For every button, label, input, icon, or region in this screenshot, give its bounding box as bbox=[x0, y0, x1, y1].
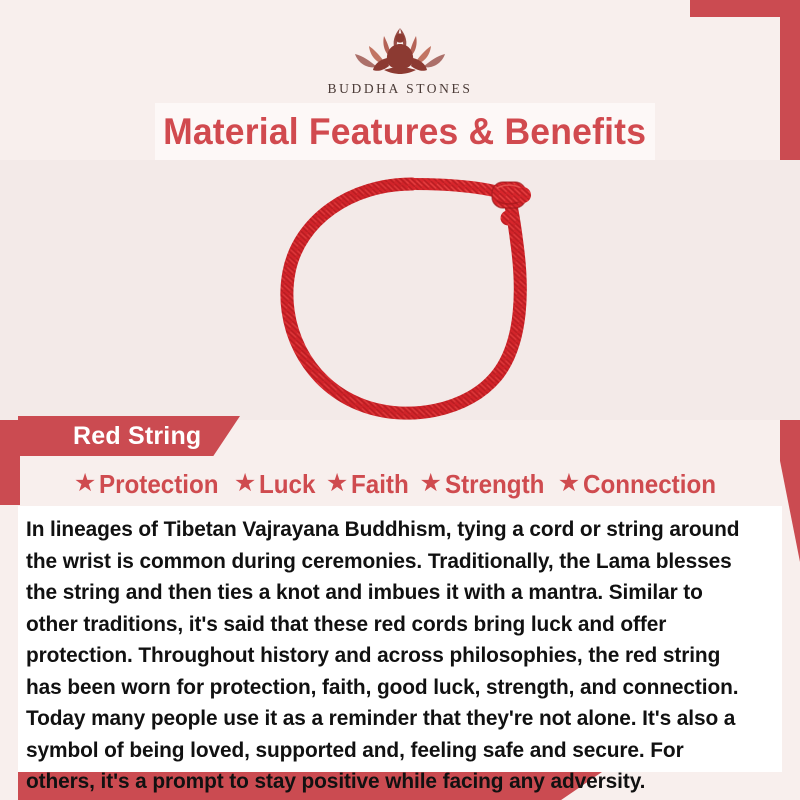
feature-list: ★ Protection ★ Luck ★ Faith ★ Strength ★… bbox=[0, 464, 800, 504]
lotus-meditation-icon bbox=[338, 18, 462, 80]
feature-item-faith: ★ Faith bbox=[326, 469, 414, 500]
star-icon: ★ bbox=[419, 471, 441, 496]
infographic-page: BUDDHA STONES Material Features & Benefi… bbox=[0, 0, 800, 800]
red-string-bracelet-image bbox=[255, 168, 575, 420]
material-name-banner: Red String bbox=[18, 416, 240, 456]
feature-item-luck: ★ Luck bbox=[234, 469, 320, 500]
description-text: In lineages of Tibetan Vajrayana Buddhis… bbox=[26, 514, 746, 798]
feature-label: Strength bbox=[445, 469, 544, 500]
feature-label: Connection bbox=[583, 469, 716, 500]
feature-label: Faith bbox=[351, 469, 409, 500]
star-icon: ★ bbox=[326, 471, 348, 496]
page-title: Material Features & Benefits bbox=[163, 111, 646, 153]
product-image-stage bbox=[0, 160, 800, 420]
brand-name: BUDDHA STONES bbox=[328, 81, 473, 97]
feature-item-strength: ★ Strength bbox=[419, 469, 551, 500]
feature-item-connection: ★ Connection bbox=[558, 469, 726, 500]
material-name-label: Red String bbox=[18, 422, 201, 451]
feature-item-protection: ★ Protection bbox=[74, 469, 228, 500]
brand-logo: BUDDHA STONES bbox=[328, 18, 473, 97]
star-icon: ★ bbox=[74, 471, 96, 496]
brand-header: BUDDHA STONES bbox=[0, 0, 800, 108]
adjustable-knot bbox=[492, 182, 531, 226]
feature-label: Luck bbox=[259, 469, 315, 500]
description-block: In lineages of Tibetan Vajrayana Buddhis… bbox=[18, 506, 782, 772]
star-icon: ★ bbox=[558, 471, 580, 496]
star-icon: ★ bbox=[234, 471, 256, 496]
feature-label: Protection bbox=[99, 469, 219, 500]
title-banner: Material Features & Benefits bbox=[155, 103, 655, 160]
